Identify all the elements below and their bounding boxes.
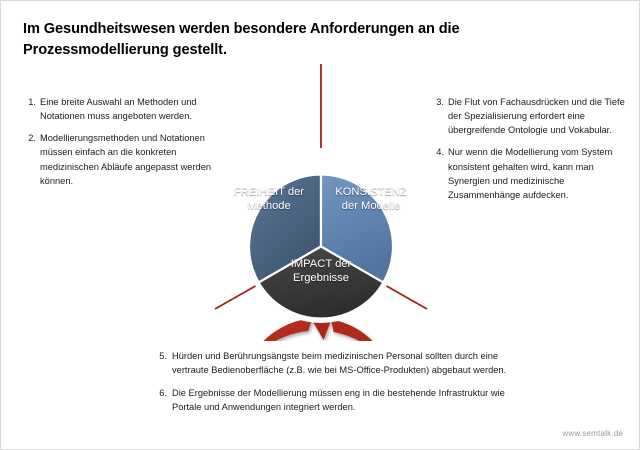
watermark: www.semtalk.de [562,429,623,438]
page-title: Im Gesundheitswesen werden besondere Anf… [23,19,583,60]
bullet-list-left: 1. Eine breite Auswahl an Methoden und N… [21,95,213,196]
list-item: 2. Modellierungsmethoden und Notationen … [21,131,213,188]
bullet-list-bottom: 5. Hürden und Berührungsängste beim medi… [151,349,531,424]
list-item: 5. Hürden und Berührungsängste beim medi… [151,349,531,377]
slide-canvas: Im Gesundheitswesen werden besondere Anf… [0,0,640,450]
list-item-text: Modellierungsmethoden und Notationen müs… [40,133,211,185]
list-item-text: Die Ergebnisse der Modellierung müssen e… [172,388,505,412]
list-item-number: 2. [21,131,36,145]
list-item: 1. Eine breite Auswahl an Methoden und N… [21,95,213,123]
list-item-number: 1. [21,95,36,109]
pie-sectors [249,175,393,319]
list-item-text: Nur wenn die Modellierung vom System kon… [448,147,612,199]
connector-line-bottom-right [383,284,427,309]
list-item-number: 5. [151,349,167,363]
cycle-diagram: FREIHEIT der Methode KONSISTENZ der Mode… [213,56,429,341]
list-item-number: 6. [151,386,167,400]
list-item-text: Eine breite Auswahl an Methoden und Nota… [40,97,197,121]
list-item: 6. Die Ergebnisse der Modellierung müsse… [151,386,531,414]
bullet-list-right: 3. Die Flut von Fachausdrücken und die T… [429,95,625,210]
list-item-number: 4. [429,145,444,159]
list-item-text: Hürden und Berührungsängste beim medizin… [172,351,506,375]
list-item-text: Die Flut von Fachausdrücken und die Tief… [448,97,625,135]
connector-line-bottom-left [215,284,259,309]
list-item-number: 3. [429,95,444,109]
list-item: 4. Nur wenn die Modellierung vom System … [429,145,625,202]
list-item: 3. Die Flut von Fachausdrücken und die T… [429,95,625,137]
